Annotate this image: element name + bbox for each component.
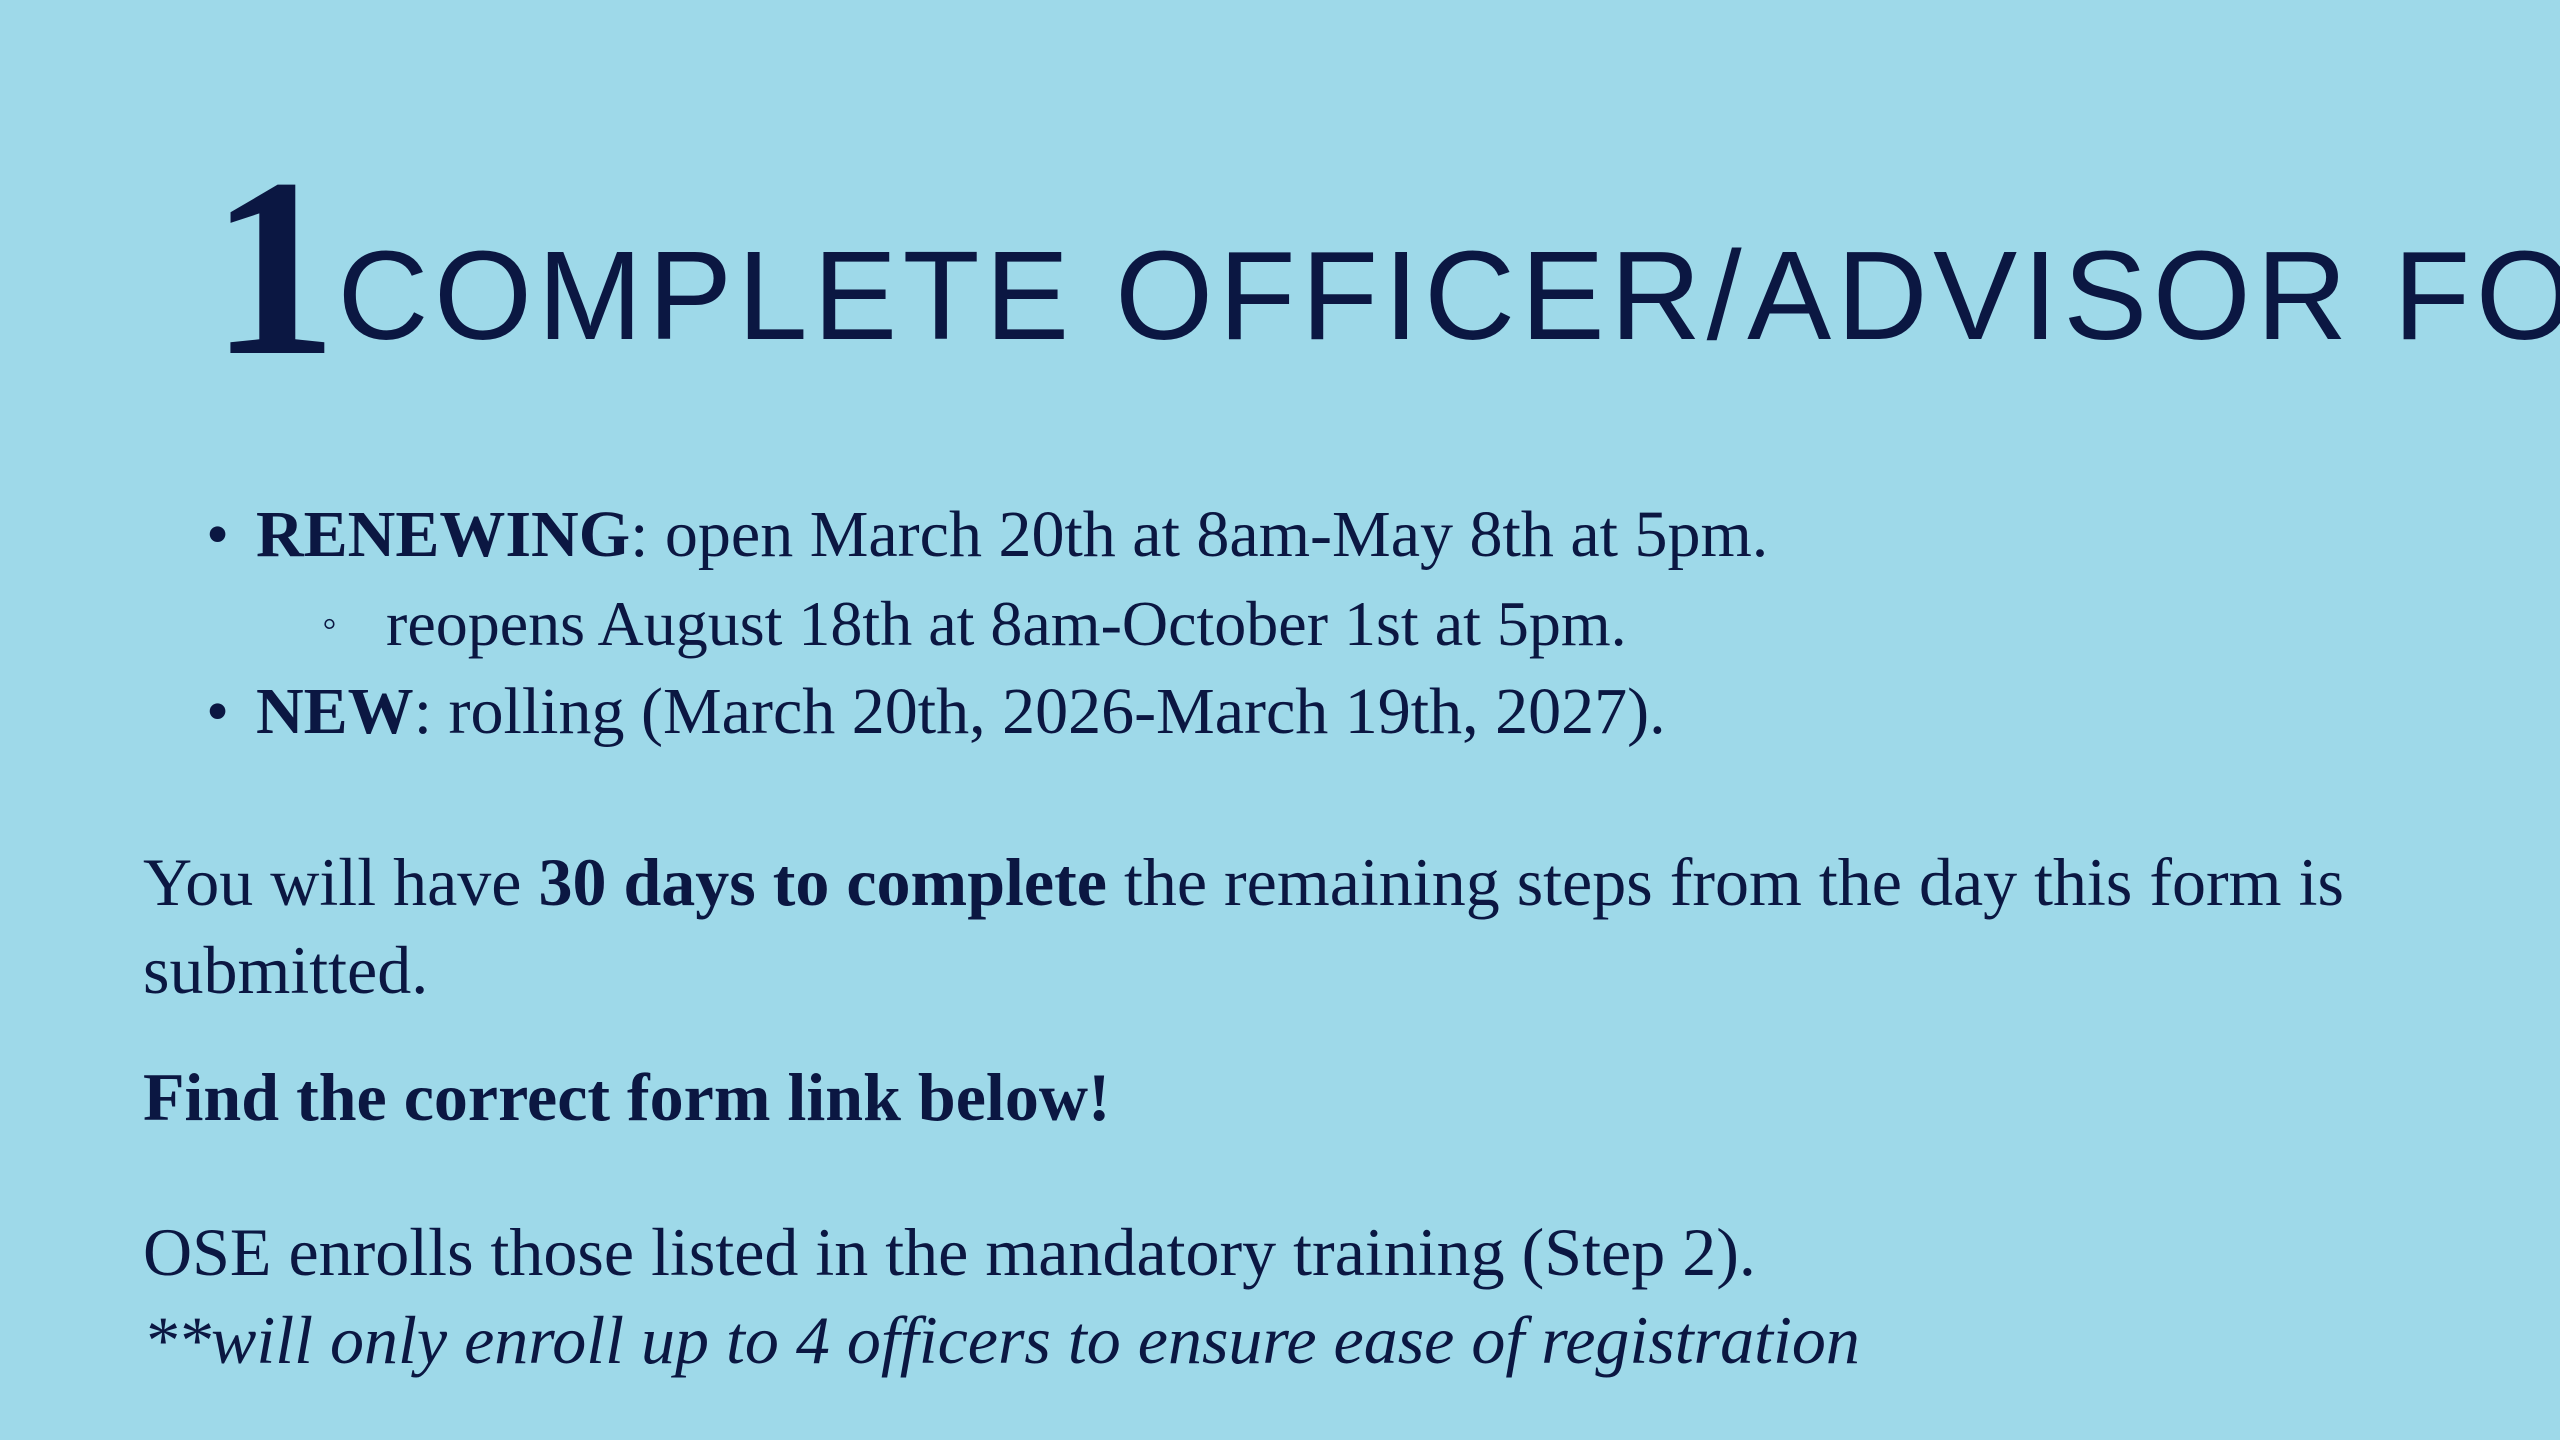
enrollment-note: OSE enrolls those listed in the mandator… xyxy=(143,1208,2463,1385)
deadline-text-before: You will have xyxy=(143,844,538,920)
deadline-paragraph: You will have 30 days to complete the re… xyxy=(143,838,2463,1015)
slide-heading: 1 COMPLETE OFFICER/ADVISOR FORM xyxy=(210,150,2560,359)
step-number: 1 xyxy=(210,164,332,373)
list-item: •NEW: rolling (March 20th, 2026-March 19… xyxy=(200,667,2500,757)
list-item: ◦reopens August 18th at 8am-October 1st … xyxy=(256,580,2500,667)
list-item-lead: NEW xyxy=(256,675,414,748)
page-title: COMPLETE OFFICER/ADVISOR FORM xyxy=(338,233,2560,359)
bullet-circle-icon: ◦ xyxy=(322,582,337,666)
form-link-callout: Find the correct form link below! xyxy=(143,1053,2463,1141)
list-item-text: : open March 20th at 8am-May 8th at 5pm. xyxy=(630,498,1768,571)
enrollment-note-line-1: OSE enrolls those listed in the mandator… xyxy=(143,1208,2463,1296)
list-item: •RENEWING: open March 20th at 8am-May 8t… xyxy=(200,490,2500,667)
sub-list-item-text: reopens August 18th at 8am-October 1st a… xyxy=(386,588,1627,659)
slide-canvas: 1 COMPLETE OFFICER/ADVISOR FORM •RENEWIN… xyxy=(0,0,2560,1440)
list-item-text: : rolling (March 20th, 2026-March 19th, … xyxy=(414,675,1666,748)
bullet-disc-icon: • xyxy=(206,490,229,580)
bullet-disc-icon: • xyxy=(206,667,229,757)
enrollment-note-line-2: **will only enroll up to 4 officers to e… xyxy=(143,1296,2463,1384)
sub-bullet-list: ◦reopens August 18th at 8am-October 1st … xyxy=(256,580,2500,667)
deadline-bullet-list: •RENEWING: open March 20th at 8am-May 8t… xyxy=(200,490,2500,757)
list-item-lead: RENEWING xyxy=(256,498,630,571)
deadline-emphasis: 30 days to complete xyxy=(538,844,1106,920)
